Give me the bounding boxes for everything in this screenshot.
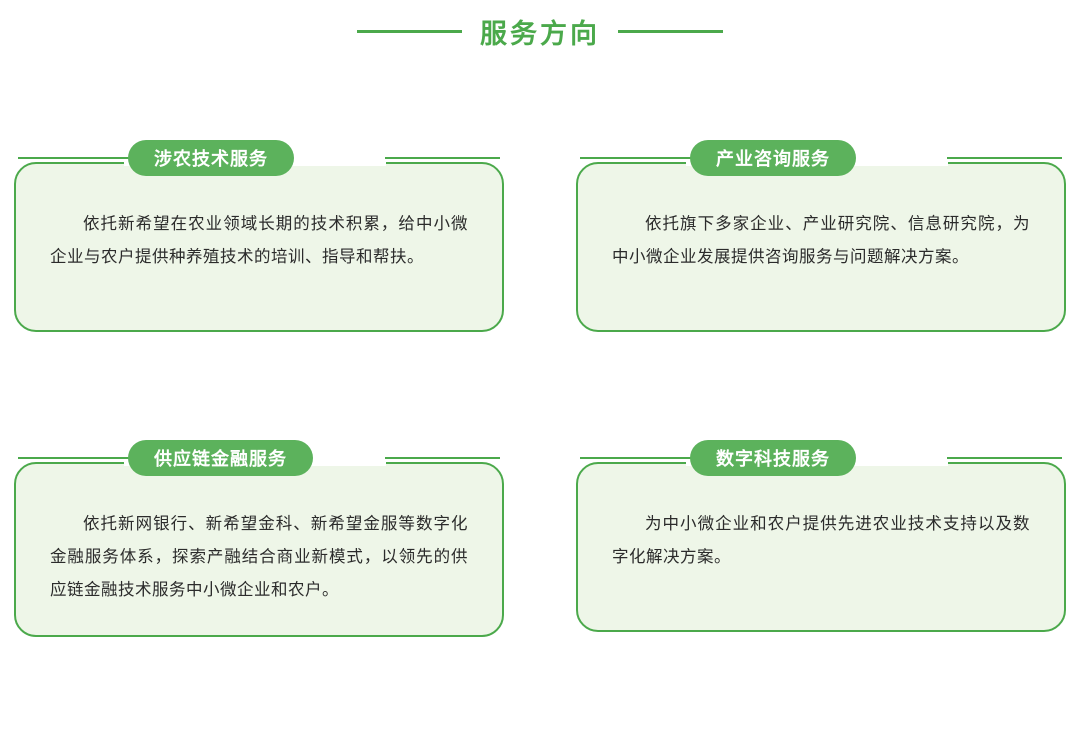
header-dash-right: [947, 457, 1062, 459]
card-body-text: 依托旗下多家企业、产业研究院、信息研究院，为中小微企业发展提供咨询服务与问题解决…: [612, 208, 1030, 274]
card-body-text: 为中小微企业和农户提供先进农业技术支持以及数字化解决方案。: [612, 508, 1030, 574]
service-cards-grid: 涉农技术服务 依托新希望在农业领域长期的技术积累，给中小微企业与农户提供种养殖技…: [0, 140, 1080, 740]
card-body: 依托新网银行、新希望金科、新希望金服等数字化金融服务体系，探索产融结合商业新模式…: [14, 462, 504, 637]
card-body: 依托旗下多家企业、产业研究院、信息研究院，为中小微企业发展提供咨询服务与问题解决…: [576, 162, 1066, 332]
page-title: 服务方向: [480, 12, 600, 51]
card-body: 依托新希望在农业领域长期的技术积累，给中小微企业与农户提供种养殖技术的培训、指导…: [14, 162, 504, 332]
header-dash-left: [18, 157, 133, 159]
header-dash-left: [580, 157, 695, 159]
header-dash-left: [18, 457, 133, 459]
card-title-pill: 数字科技服务: [690, 440, 856, 476]
card-body: 为中小微企业和农户提供先进农业技术支持以及数字化解决方案。: [576, 462, 1066, 632]
header-dash-left: [580, 457, 695, 459]
card-title-pill: 供应链金融服务: [128, 440, 313, 476]
header-dash-right: [385, 457, 500, 459]
service-card-industry-consulting: 产业咨询服务 依托旗下多家企业、产业研究院、信息研究院，为中小微企业发展提供咨询…: [576, 140, 1066, 332]
header-dash-right: [947, 157, 1062, 159]
card-header: 涉农技术服务: [14, 140, 504, 180]
card-header: 数字科技服务: [576, 440, 1066, 480]
service-card-agri-tech: 涉农技术服务 依托新希望在农业领域长期的技术积累，给中小微企业与农户提供种养殖技…: [14, 140, 504, 332]
card-body-text: 依托新希望在农业领域长期的技术积累，给中小微企业与农户提供种养殖技术的培训、指导…: [50, 208, 468, 274]
service-card-supply-chain-finance: 供应链金融服务 依托新网银行、新希望金科、新希望金服等数字化金融服务体系，探索产…: [14, 440, 504, 637]
header-rule-left: [357, 30, 462, 33]
service-card-digital-tech: 数字科技服务 为中小微企业和农户提供先进农业技术支持以及数字化解决方案。: [576, 440, 1066, 632]
header-rule-right: [618, 30, 723, 33]
card-header: 供应链金融服务: [14, 440, 504, 480]
card-row-2: 供应链金融服务 依托新网银行、新希望金科、新希望金服等数字化金融服务体系，探索产…: [0, 440, 1080, 740]
card-header: 产业咨询服务: [576, 140, 1066, 180]
header-dash-right: [385, 157, 500, 159]
card-title-pill: 涉农技术服务: [128, 140, 294, 176]
card-title-pill: 产业咨询服务: [690, 140, 856, 176]
card-row-1: 涉农技术服务 依托新希望在农业领域长期的技术积累，给中小微企业与农户提供种养殖技…: [0, 140, 1080, 440]
page-header: 服务方向: [0, 0, 1080, 62]
card-body-text: 依托新网银行、新希望金科、新希望金服等数字化金融服务体系，探索产融结合商业新模式…: [50, 508, 468, 607]
